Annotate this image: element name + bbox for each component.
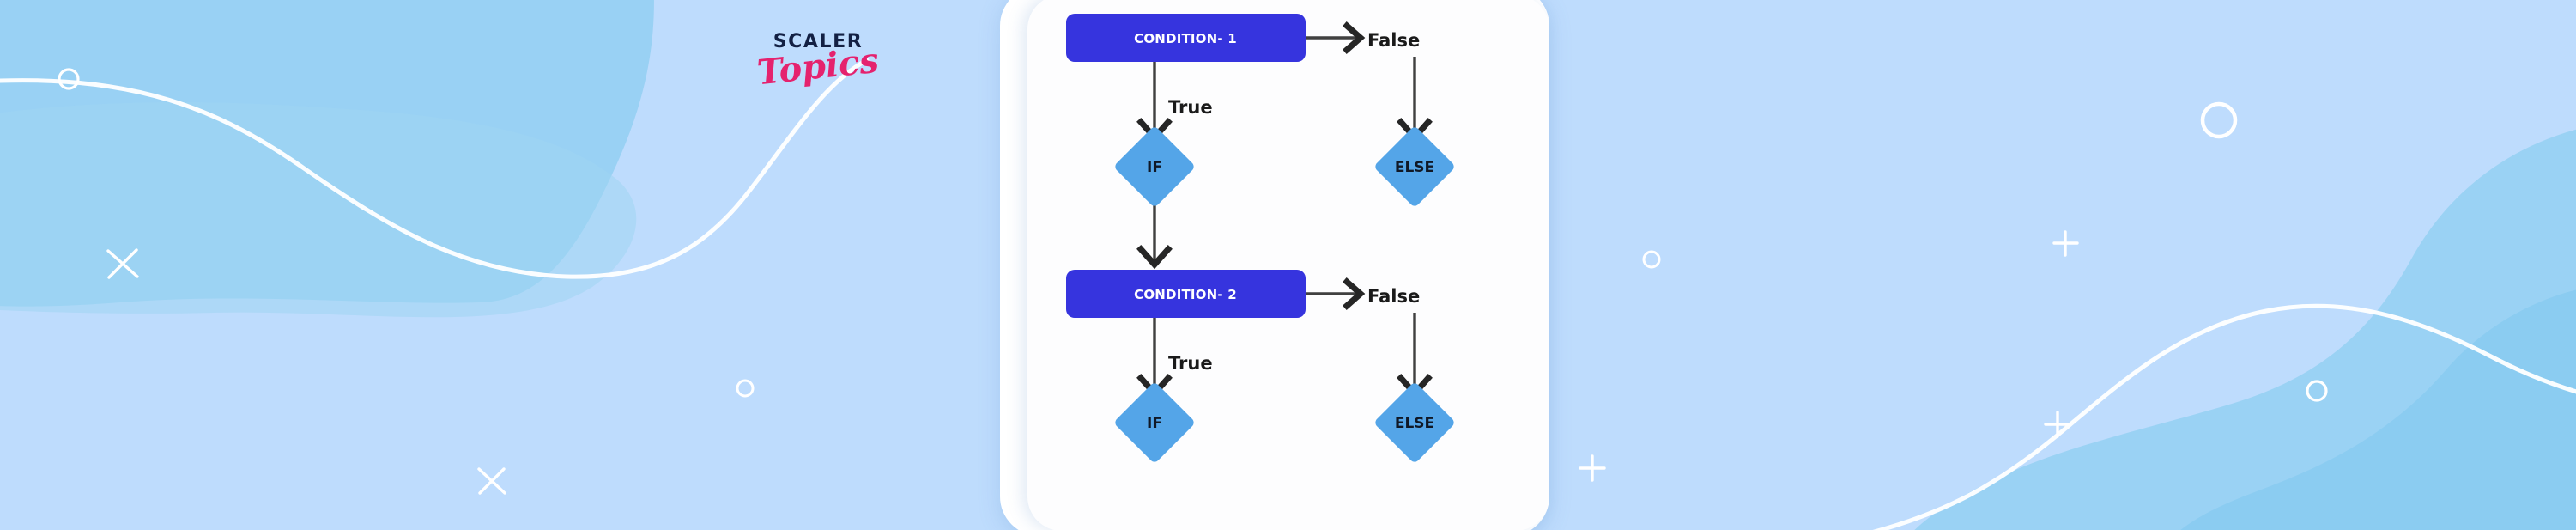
- flowchart-svg: CONDITION- 1 False True IF ELSE: [1027, 0, 1549, 530]
- node-else-2[interactable]: ELSE: [1373, 381, 1456, 464]
- if-1-label: IF: [1147, 159, 1162, 176]
- node-condition-1[interactable]: CONDITION- 1: [1066, 14, 1306, 62]
- edge-cond2-to-if2: [1141, 318, 1168, 393]
- label-true-1: True: [1168, 97, 1213, 118]
- edge-if1-to-cond2: [1141, 196, 1168, 265]
- edge-false2-to-else2: [1401, 313, 1428, 393]
- logo-product-text: Topics: [752, 43, 883, 90]
- condition-1-label: CONDITION- 1: [1134, 31, 1237, 46]
- node-if-1[interactable]: IF: [1113, 125, 1196, 208]
- edge-cond1-to-if1: [1141, 62, 1168, 137]
- if-2-label: IF: [1147, 415, 1162, 432]
- edge-cond2-to-false2: [1306, 282, 1361, 306]
- condition-2-label: CONDITION- 2: [1134, 287, 1237, 302]
- label-false-1: False: [1367, 30, 1420, 51]
- flowchart-container: CONDITION- 1 False True IF ELSE: [1027, 0, 1549, 530]
- node-condition-2[interactable]: CONDITION- 2: [1066, 270, 1306, 318]
- label-false-2: False: [1367, 286, 1420, 307]
- edge-false1-to-else1: [1401, 57, 1428, 137]
- screenshot-canvas: SCALER Topics: [0, 0, 2576, 530]
- scaler-topics-logo: SCALER Topics: [754, 33, 882, 110]
- else-1-label: ELSE: [1395, 159, 1434, 176]
- else-2-label: ELSE: [1395, 415, 1434, 432]
- label-true-2: True: [1168, 353, 1213, 374]
- edge-cond1-to-false1: [1306, 26, 1361, 50]
- node-else-1[interactable]: ELSE: [1373, 125, 1456, 208]
- node-if-2[interactable]: IF: [1113, 381, 1196, 464]
